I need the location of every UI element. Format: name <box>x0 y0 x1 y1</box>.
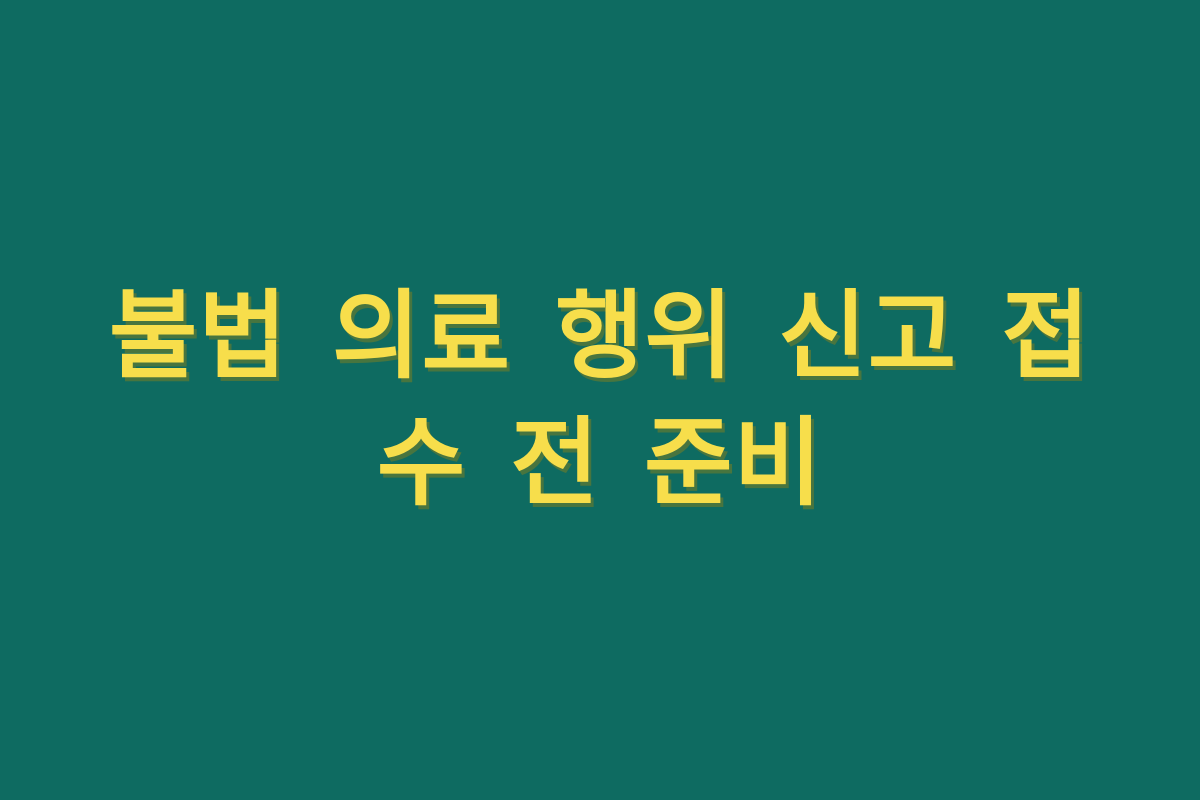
headline-line-1: 불법 의료 행위 신고 접 <box>100 273 1100 400</box>
poster-canvas: 불법 의료 행위 신고 접 수 전 준비 <box>0 0 1200 800</box>
headline-line-2: 수 전 준비 <box>100 400 1100 527</box>
page-title: 불법 의료 행위 신고 접 수 전 준비 <box>100 273 1100 526</box>
